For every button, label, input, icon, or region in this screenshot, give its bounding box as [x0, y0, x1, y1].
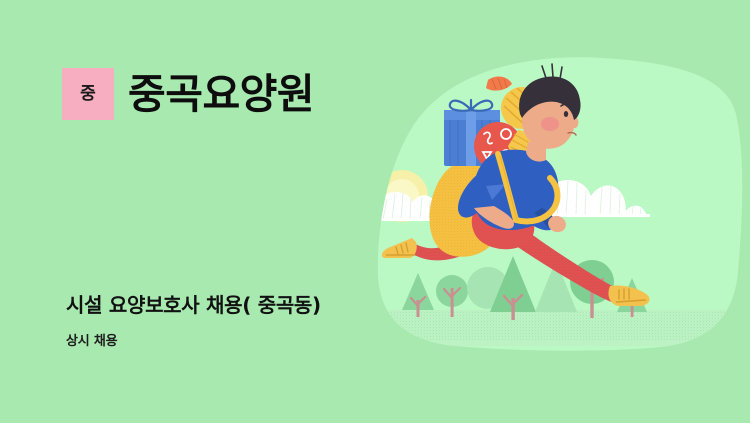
brand-badge: 중 — [62, 68, 114, 120]
job-banner: 중 중곡요양원 시설 요양보호사 채용( 중곡동) 상시 채용 — [0, 0, 750, 423]
brand-name: 중곡요양원 — [128, 74, 314, 115]
brand-row: 중 중곡요양원 — [62, 68, 314, 120]
job-info-block: 시설 요양보호사 채용( 중곡동) 상시 채용 — [66, 293, 321, 351]
runner-eye — [564, 111, 568, 117]
ground-strip — [370, 310, 750, 346]
job-subtitle: 상시 채용 — [66, 334, 321, 351]
job-title: 시설 요양보호사 채용( 중곡동) — [66, 293, 321, 318]
illustration-running-person — [370, 48, 750, 358]
runner-cheek — [541, 117, 559, 131]
